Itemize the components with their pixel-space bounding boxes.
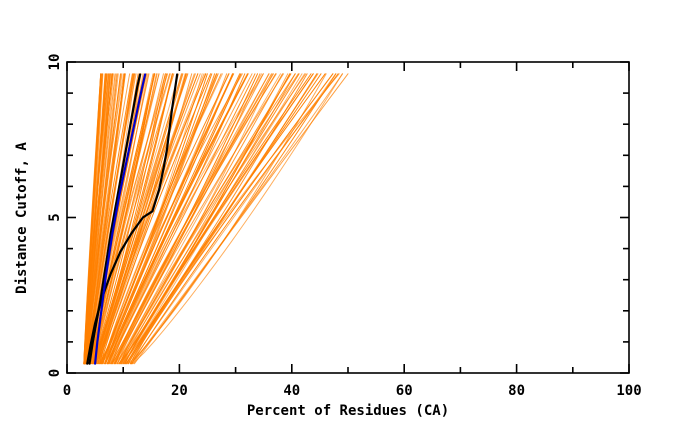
y-axis-title: Distance Cutoff, A bbox=[14, 142, 30, 294]
chart-canvas: 0204060801000510 Percent of Residues (CA… bbox=[0, 0, 680, 440]
x-tick-label: 40 bbox=[283, 383, 300, 399]
x-tick-label: 100 bbox=[616, 383, 641, 399]
x-tick-label: 20 bbox=[171, 383, 188, 399]
x-tick-label: 60 bbox=[396, 383, 413, 399]
x-tick-label: 80 bbox=[508, 383, 525, 399]
x-tick-label: 0 bbox=[63, 383, 71, 399]
chart-figure: T0960 0204060801000510 Percent of Residu… bbox=[0, 0, 680, 440]
y-tick-label: 0 bbox=[47, 369, 63, 377]
y-tick-label: 5 bbox=[47, 213, 63, 221]
y-tick-label: 10 bbox=[47, 54, 63, 71]
x-axis-title: Percent of Residues (CA) bbox=[247, 403, 449, 419]
